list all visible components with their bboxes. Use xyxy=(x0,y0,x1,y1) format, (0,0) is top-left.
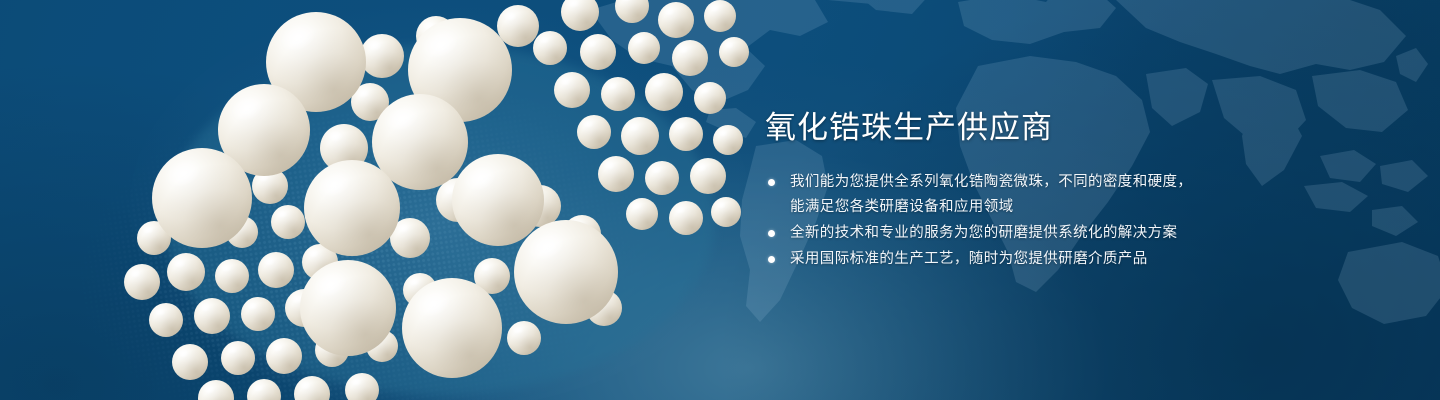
feature-text-line1: 我们能为您提供全系列氧化锆陶瓷微珠，不同的密度和硬度， xyxy=(790,174,1192,190)
bullet-dot-icon xyxy=(768,256,775,263)
hero-banner: 氧化锆珠生产供应商 我们能为您提供全系列氧化锆陶瓷微珠，不同的密度和硬度， 能满… xyxy=(0,0,1440,400)
feature-text-line2: 能满足您各类研磨设备和应用领域 xyxy=(790,195,1385,220)
zirconia-beads-image xyxy=(120,0,760,400)
list-item: 全新的技术和专业的服务为您的研磨提供系统化的解决方案 xyxy=(765,221,1385,246)
list-item: 采用国际标准的生产工艺，随时为您提供研磨介质产品 xyxy=(765,247,1385,272)
feature-text-line1: 全新的技术和专业的服务为您的研磨提供系统化的解决方案 xyxy=(790,225,1177,241)
page-title: 氧化锆珠生产供应商 xyxy=(765,108,1385,148)
feature-text-line1: 采用国际标准的生产工艺，随时为您提供研磨介质产品 xyxy=(790,251,1148,267)
feature-list: 我们能为您提供全系列氧化锆陶瓷微珠，不同的密度和硬度， 能满足您各类研磨设备和应… xyxy=(765,170,1385,272)
list-item: 我们能为您提供全系列氧化锆陶瓷微珠，不同的密度和硬度， 能满足您各类研磨设备和应… xyxy=(765,170,1385,220)
bullet-dot-icon xyxy=(768,230,775,237)
banner-copy: 氧化锆珠生产供应商 我们能为您提供全系列氧化锆陶瓷微珠，不同的密度和硬度， 能满… xyxy=(765,108,1385,273)
bullet-dot-icon xyxy=(768,179,775,186)
